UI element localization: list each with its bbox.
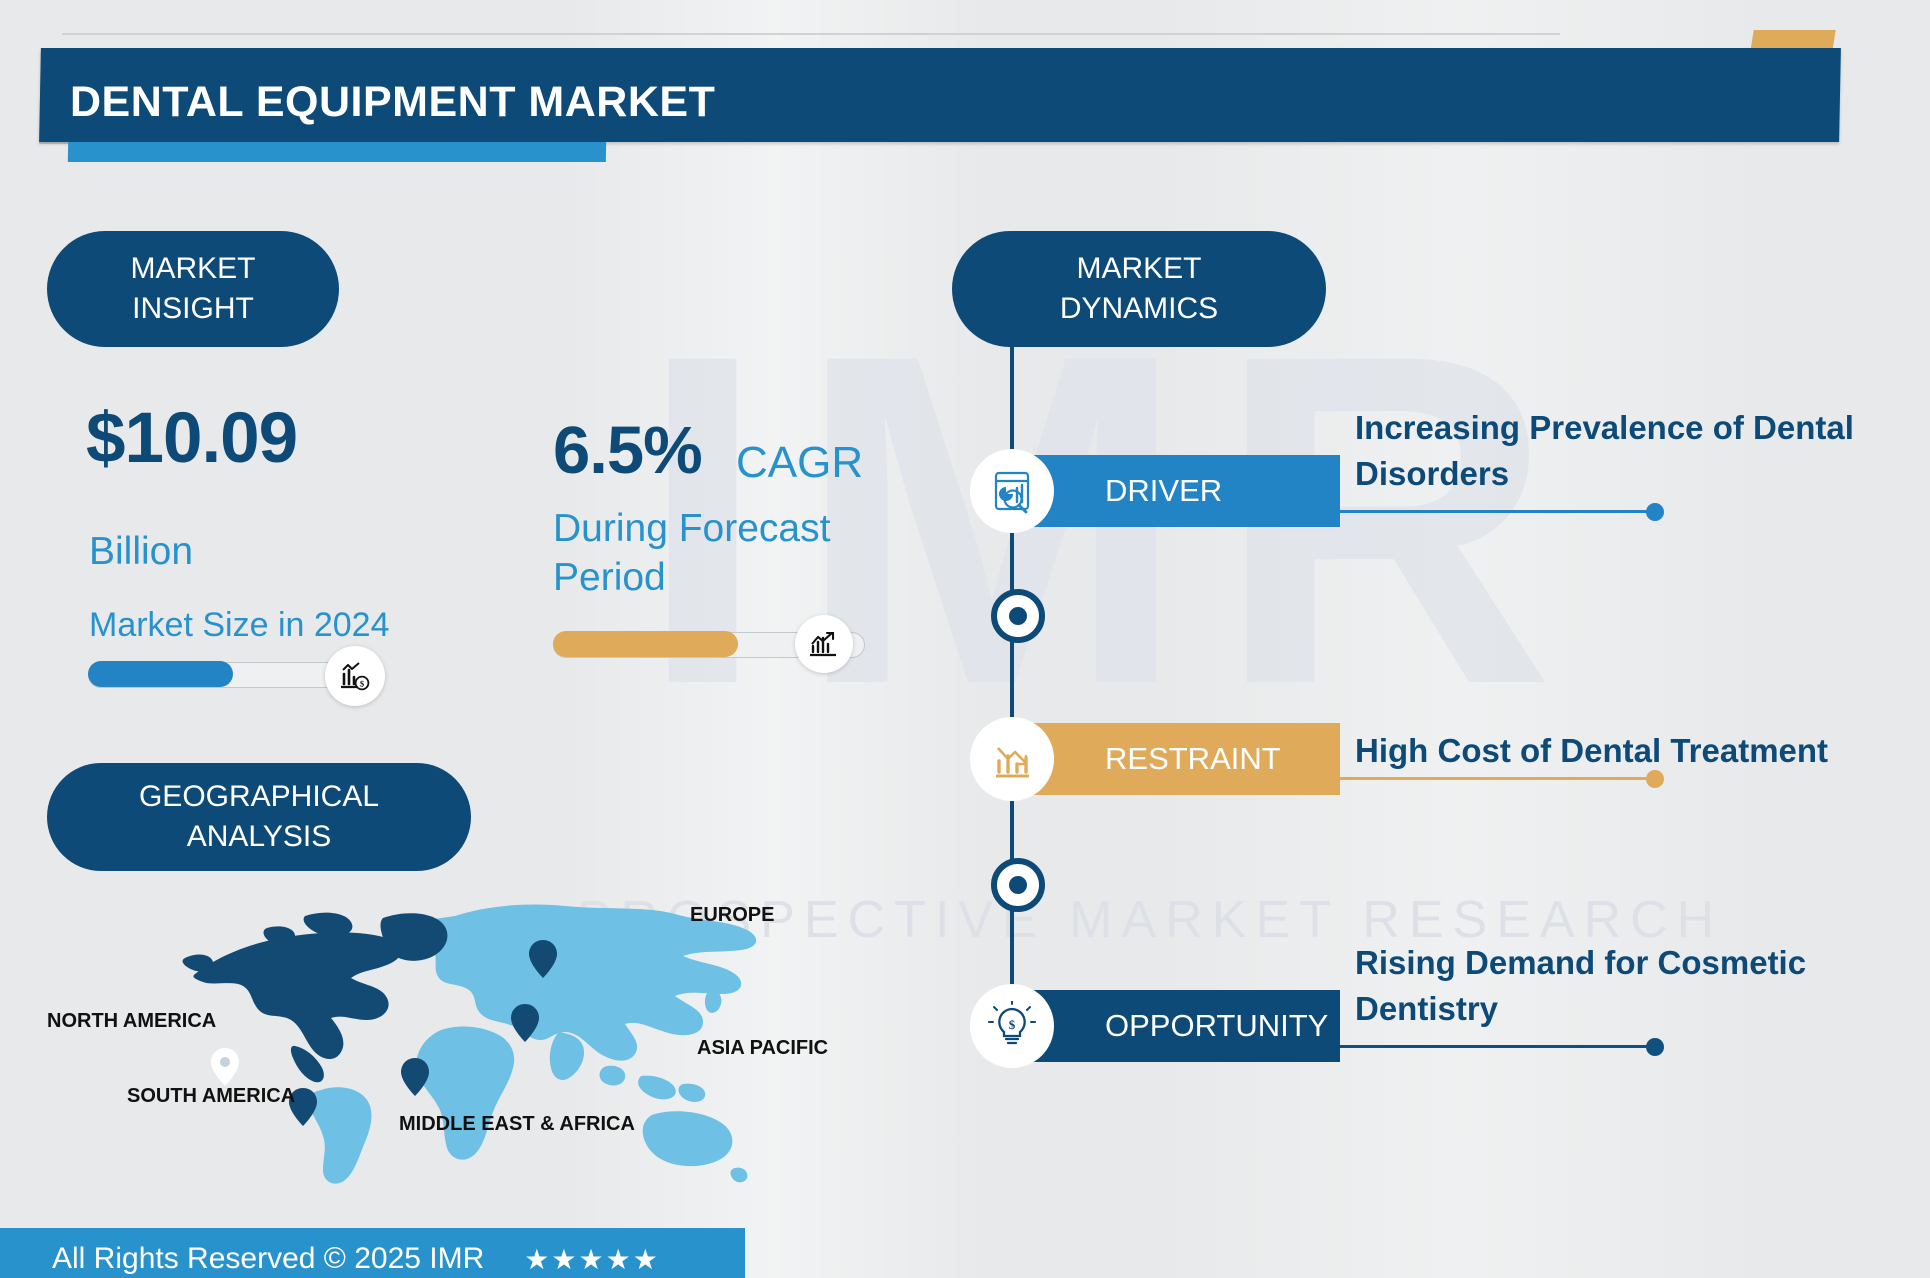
- chart-decline-icon: [970, 717, 1054, 801]
- market-insight-pill-label: MARKET INSIGHT: [130, 249, 255, 328]
- analytics-search-icon: [970, 449, 1054, 533]
- dynamics-restraint-leader-line: [1340, 777, 1652, 780]
- lightbulb-idea-icon: $: [970, 984, 1054, 1068]
- market-size-unit: Billion: [89, 528, 193, 577]
- region-label-south-america: SOUTH AMERICA: [127, 1085, 295, 1108]
- timeline-node-2: [991, 858, 1045, 912]
- region-label-asia-pacific: ASIA PACIFIC: [697, 1037, 828, 1060]
- dynamics-restraint-label: RESTRAINT: [1105, 741, 1281, 777]
- trending-up-chart-icon: [795, 615, 853, 673]
- cagr-value: 6.5%: [553, 412, 702, 489]
- dynamics-row-opportunity[interactable]: OPPORTUNITY $: [1010, 990, 1340, 1062]
- svg-text:$: $: [1009, 1017, 1016, 1032]
- dynamics-opportunity-leader-line: [1340, 1045, 1652, 1048]
- dynamics-restraint-text: High Cost of Dental Treatment: [1355, 728, 1900, 774]
- dynamics-driver-label: DRIVER: [1105, 473, 1222, 509]
- footer-copyright: All Rights Reserved © 2025 IMR: [0, 1242, 484, 1276]
- market-size-caption: Market Size in 2024: [89, 604, 390, 647]
- cagr-progress-fill: [553, 631, 738, 657]
- bar-chart-dollar-icon: $: [325, 646, 385, 706]
- footer-bar: All Rights Reserved © 2025 IMR ★★★★★: [0, 1228, 745, 1278]
- geographical-analysis-pill-label: GEOGRAPHICAL ANALYSIS: [139, 777, 379, 856]
- market-dynamics-pill-label: MARKET DYNAMICS: [1060, 249, 1218, 328]
- dynamics-restraint-caption: RESTRAINT: [1010, 723, 1340, 795]
- dynamics-driver-leader-dot: [1646, 503, 1664, 521]
- dynamics-driver-caption: DRIVER: [1010, 455, 1340, 527]
- infographic-page: IMR PROSPECTIVE MARKET RESEARCH DENTAL E…: [0, 0, 1930, 1278]
- dynamics-opportunity-leader-dot: [1646, 1038, 1664, 1056]
- dynamics-row-driver[interactable]: DRIVER: [1010, 455, 1340, 527]
- cagr-label: CAGR: [736, 438, 863, 488]
- dynamics-opportunity-caption: OPPORTUNITY: [1010, 990, 1340, 1062]
- market-dynamics-pill: MARKET DYNAMICS: [952, 231, 1326, 347]
- dynamics-driver-leader-line: [1340, 510, 1652, 513]
- page-title: DENTAL EQUIPMENT MARKET: [70, 78, 1570, 127]
- market-size-progress-fill: [88, 661, 233, 687]
- header-thin-rule: [62, 33, 1560, 35]
- dynamics-opportunity-text: Rising Demand for Cosmetic Dentistry: [1355, 940, 1900, 1031]
- region-label-middle-east-africa: MIDDLE EAST & AFRICA: [399, 1113, 635, 1136]
- cagr-caption: During Forecast Period: [553, 505, 853, 603]
- market-insight-pill: MARKET INSIGHT: [47, 231, 339, 347]
- dynamics-opportunity-label: OPPORTUNITY: [1105, 1008, 1328, 1044]
- market-size-value: $10.09: [86, 398, 297, 479]
- region-label-north-america: NORTH AMERICA: [47, 1010, 216, 1033]
- geographical-analysis-pill: GEOGRAPHICAL ANALYSIS: [47, 763, 471, 871]
- dynamics-driver-text: Increasing Prevalence of Dental Disorder…: [1355, 405, 1900, 496]
- region-label-europe: EUROPE: [690, 904, 774, 927]
- rating-stars-icon: ★★★★★: [484, 1243, 660, 1276]
- header-underline: [68, 142, 606, 162]
- dynamics-row-restraint[interactable]: RESTRAINT: [1010, 723, 1340, 795]
- timeline-node-1: [991, 589, 1045, 643]
